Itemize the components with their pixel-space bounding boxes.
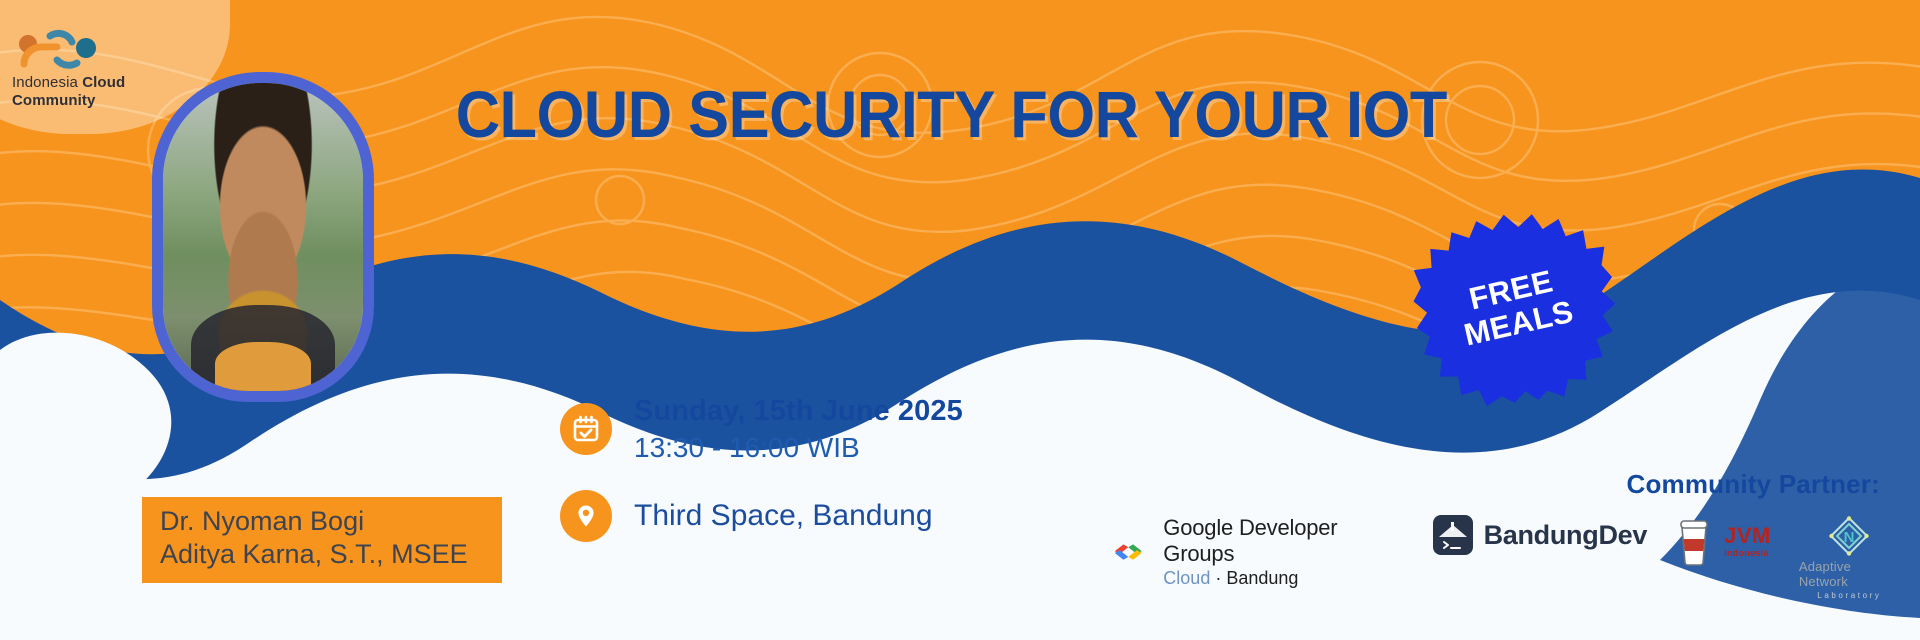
gdg-sub-city: Bandung bbox=[1226, 568, 1298, 588]
logo-line1-thin: Indonesia bbox=[12, 74, 82, 91]
partner-adaptive-network: N Adaptive Network Laboratory bbox=[1799, 515, 1900, 600]
adaptive-network-diamond-icon: N bbox=[1828, 515, 1870, 557]
speaker-collar bbox=[215, 342, 311, 391]
event-time: 13:30 - 16:00 WIB bbox=[634, 430, 963, 466]
partner-bandungdev: BandungDev bbox=[1433, 515, 1648, 555]
event-location: Third Space, Bandung bbox=[634, 497, 933, 535]
logo-text: Indonesia Cloud Community bbox=[12, 74, 182, 110]
svg-text:N: N bbox=[1844, 529, 1855, 546]
gdg-subtitle: Cloud · Bandung bbox=[1163, 567, 1404, 590]
bandungdev-terminal-icon bbox=[1433, 515, 1473, 555]
speaker-name-badge: Dr. Nyoman Bogi Aditya Karna, S.T., MSEE bbox=[142, 497, 502, 583]
event-details: Sunday, 15th June 2025 13:30 - 16:00 WIB… bbox=[560, 392, 963, 566]
jvm-subtitle: Indonesia bbox=[1724, 549, 1771, 558]
logo-line1-bold: Cloud bbox=[82, 74, 125, 91]
location-row: Third Space, Bandung bbox=[560, 490, 963, 542]
bandungdev-name: BandungDev bbox=[1484, 520, 1648, 551]
map-pin-icon bbox=[560, 490, 612, 542]
speaker-name-line2: Aditya Karna, S.T., MSEE bbox=[160, 538, 484, 571]
gdg-chevron-icon bbox=[1110, 540, 1152, 566]
community-partner-title: Community Partner: bbox=[1626, 469, 1880, 500]
speaker-portrait bbox=[152, 72, 374, 402]
cloud-network-icon bbox=[10, 24, 114, 78]
gdg-name: Google Developer Groups bbox=[1163, 515, 1404, 567]
jvm-name: JVM bbox=[1724, 525, 1771, 547]
date-time-row: Sunday, 15th June 2025 13:30 - 16:00 WIB bbox=[560, 392, 963, 466]
calendar-check-icon bbox=[560, 403, 612, 455]
partner-jvm: JVM Indonesia bbox=[1675, 515, 1771, 567]
anl-subtitle: Laboratory bbox=[1817, 591, 1881, 600]
jvm-coffee-cup-icon bbox=[1675, 515, 1713, 567]
anl-name: Adaptive Network bbox=[1799, 559, 1900, 589]
page-title: CLOUD SECURITY FOR YOUR IOT bbox=[456, 78, 1405, 150]
logo-line2: Community bbox=[12, 92, 182, 110]
free-meals-badge: FREE MEALS bbox=[1404, 201, 1626, 414]
event-banner: Indonesia Cloud Community CLOUD SECURITY… bbox=[0, 0, 1920, 640]
starburst-shape bbox=[1404, 201, 1626, 414]
speaker-name-line1: Dr. Nyoman Bogi bbox=[160, 505, 484, 538]
partner-gdg: Google Developer Groups Cloud · Bandung bbox=[1110, 515, 1405, 590]
partner-logos: Google Developer Groups Cloud · Bandung … bbox=[1110, 515, 1900, 595]
gdg-sub-sep: · bbox=[1210, 568, 1226, 588]
event-date: Sunday, 15th June 2025 bbox=[634, 392, 963, 430]
gdg-sub-cloud: Cloud bbox=[1163, 568, 1210, 588]
